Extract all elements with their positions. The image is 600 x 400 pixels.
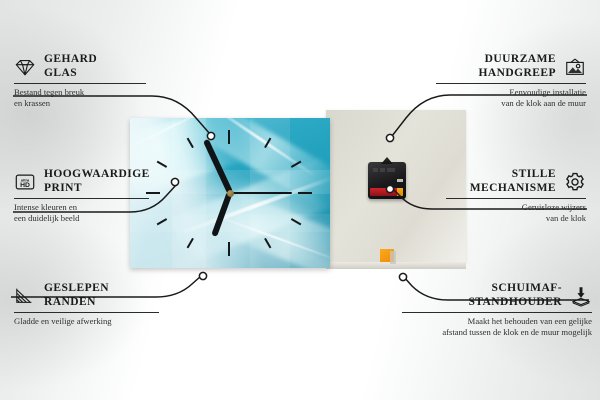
callout-schuimafstandhouder: SCHUIMAF- STANDHOUDER Maakt het behouden… <box>402 282 592 337</box>
clock-tick <box>291 218 302 225</box>
callout-desc-line1: Geruisloze wijzers <box>446 202 586 213</box>
gear-icon <box>564 171 586 193</box>
clock-tick <box>291 161 302 168</box>
clock-mechanism <box>368 162 406 199</box>
callout-rule <box>14 198 149 199</box>
callout-hoogwaardige-print: ultra HD HOOGWAARDIGE PRINT Intense kleu… <box>14 168 149 223</box>
callout-desc-line1: Gladde en veilige afwerking <box>14 316 159 327</box>
foam-standoff-icon <box>570 285 592 307</box>
clock-tick <box>264 238 271 249</box>
callout-title-line2: RANDEN <box>44 296 109 310</box>
clock-glass-face <box>130 118 330 268</box>
clock-tick <box>187 238 194 249</box>
callout-desc-line2: en krassen <box>14 98 146 109</box>
callout-rule <box>436 83 586 84</box>
ultra-hd-large-text: HD <box>20 182 30 189</box>
callout-title-line1: GESLEPEN <box>44 282 109 296</box>
callout-title-line2: GLAS <box>44 67 97 81</box>
clock-tick <box>228 242 230 256</box>
ultra-hd-icon: ultra HD <box>14 171 36 193</box>
product-infographic: GEHARD GLAS Bestand tegen breuk en krass… <box>0 0 600 400</box>
clock-tick <box>157 161 168 168</box>
battery <box>370 188 402 196</box>
callout-title-line1: DUURZAME <box>478 53 556 67</box>
callout-rule <box>14 83 146 84</box>
callout-desc-line2: afstand tussen de klok en de muur mogeli… <box>402 327 592 338</box>
callout-desc-line2: van de klok <box>446 213 586 224</box>
callout-desc-line1: Intense kleuren en <box>14 202 149 213</box>
callout-title-line2: HANDGREEP <box>478 67 556 81</box>
product-photo <box>130 104 466 280</box>
foam-standoff-pad <box>380 249 394 262</box>
callout-gehard-glas: GEHARD GLAS Bestand tegen breuk en krass… <box>14 53 146 108</box>
clock-hand-hub <box>227 190 234 197</box>
callout-title-line2: STANDHOUDER <box>468 296 562 310</box>
callout-desc-line1: Maakt het behouden van een gelijke <box>402 316 592 327</box>
callout-title-line1: SCHUIMAF- <box>468 282 562 296</box>
callout-title-line1: STILLE <box>470 168 556 182</box>
callout-desc-line2: van de klok aan de muur <box>436 98 586 109</box>
clock-tick <box>264 138 271 149</box>
callout-title-line2: PRINT <box>44 182 150 196</box>
clock-second-hand <box>230 192 292 193</box>
callout-duurzame-handgreep: DUURZAME HANDGREEP Eenvoudige installati… <box>436 53 586 108</box>
callout-geslepen-randen: GESLEPEN RANDEN Gladde en veilige afwerk… <box>14 282 159 327</box>
callout-rule <box>402 312 592 313</box>
callout-title-line1: GEHARD <box>44 53 97 67</box>
hatched-edge-icon <box>14 285 36 307</box>
clock-tick <box>187 138 194 149</box>
callout-title-line2: MECHANISME <box>470 182 556 196</box>
callout-desc-line2: een duidelijk beeld <box>14 213 149 224</box>
callout-rule <box>14 312 159 313</box>
diamond-icon <box>14 56 36 78</box>
clock-tick <box>157 218 168 225</box>
callout-stille-mechanisme: STILLE MECHANISME Geruisloze wijzers van… <box>446 168 586 223</box>
clock-hour-hand <box>212 192 233 237</box>
clock-tick <box>228 130 230 144</box>
callout-desc-line1: Bestand tegen breuk <box>14 87 146 98</box>
picture-frame-icon <box>564 56 586 78</box>
clock-tick <box>298 192 312 194</box>
callout-desc-line1: Eenvoudige installatie <box>436 87 586 98</box>
clock-minute-hand <box>203 139 232 194</box>
callout-title-line1: HOOGWAARDIGE <box>44 168 150 182</box>
callout-rule <box>446 198 586 199</box>
